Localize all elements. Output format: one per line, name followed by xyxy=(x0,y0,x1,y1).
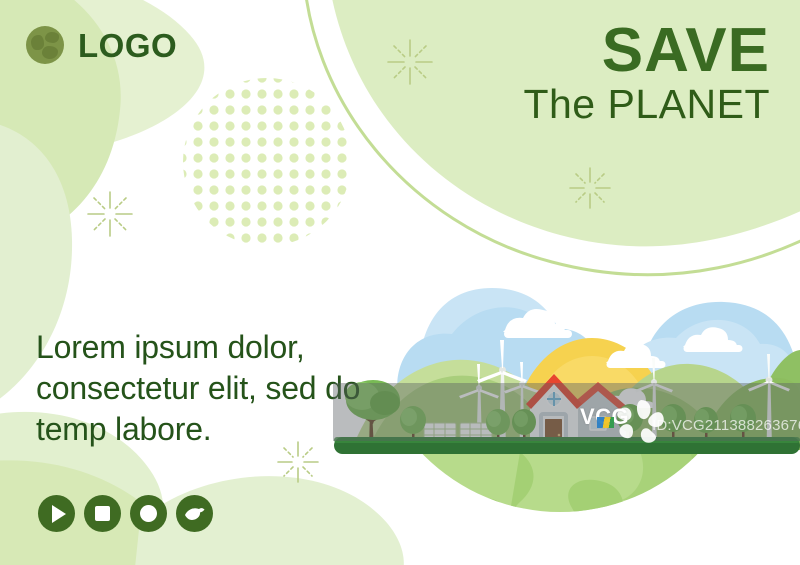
globe-icon xyxy=(26,26,64,64)
social-bird-button[interactable] xyxy=(176,495,213,532)
headline-sub: The PLANET xyxy=(523,81,770,128)
social-links-row xyxy=(38,495,213,532)
logo-text: LOGO xyxy=(78,29,177,62)
body-paragraph: Lorem ipsum dolor, consectetur elit, sed… xyxy=(36,327,366,450)
circle-icon xyxy=(140,505,157,522)
bird-icon xyxy=(184,506,206,522)
ground-strip xyxy=(334,437,800,454)
social-circle-button[interactable] xyxy=(130,495,167,532)
square-icon xyxy=(95,506,110,521)
play-icon xyxy=(52,505,66,523)
social-square-button[interactable] xyxy=(84,495,121,532)
poster-canvas: LOGO SAVE The PLANET xyxy=(0,0,800,565)
logo-block[interactable]: LOGO xyxy=(26,26,177,64)
social-play-button[interactable] xyxy=(38,495,75,532)
headline-main: SAVE xyxy=(523,18,770,83)
headline-block: SAVE The PLANET xyxy=(523,18,770,128)
globe-shape xyxy=(360,450,768,565)
